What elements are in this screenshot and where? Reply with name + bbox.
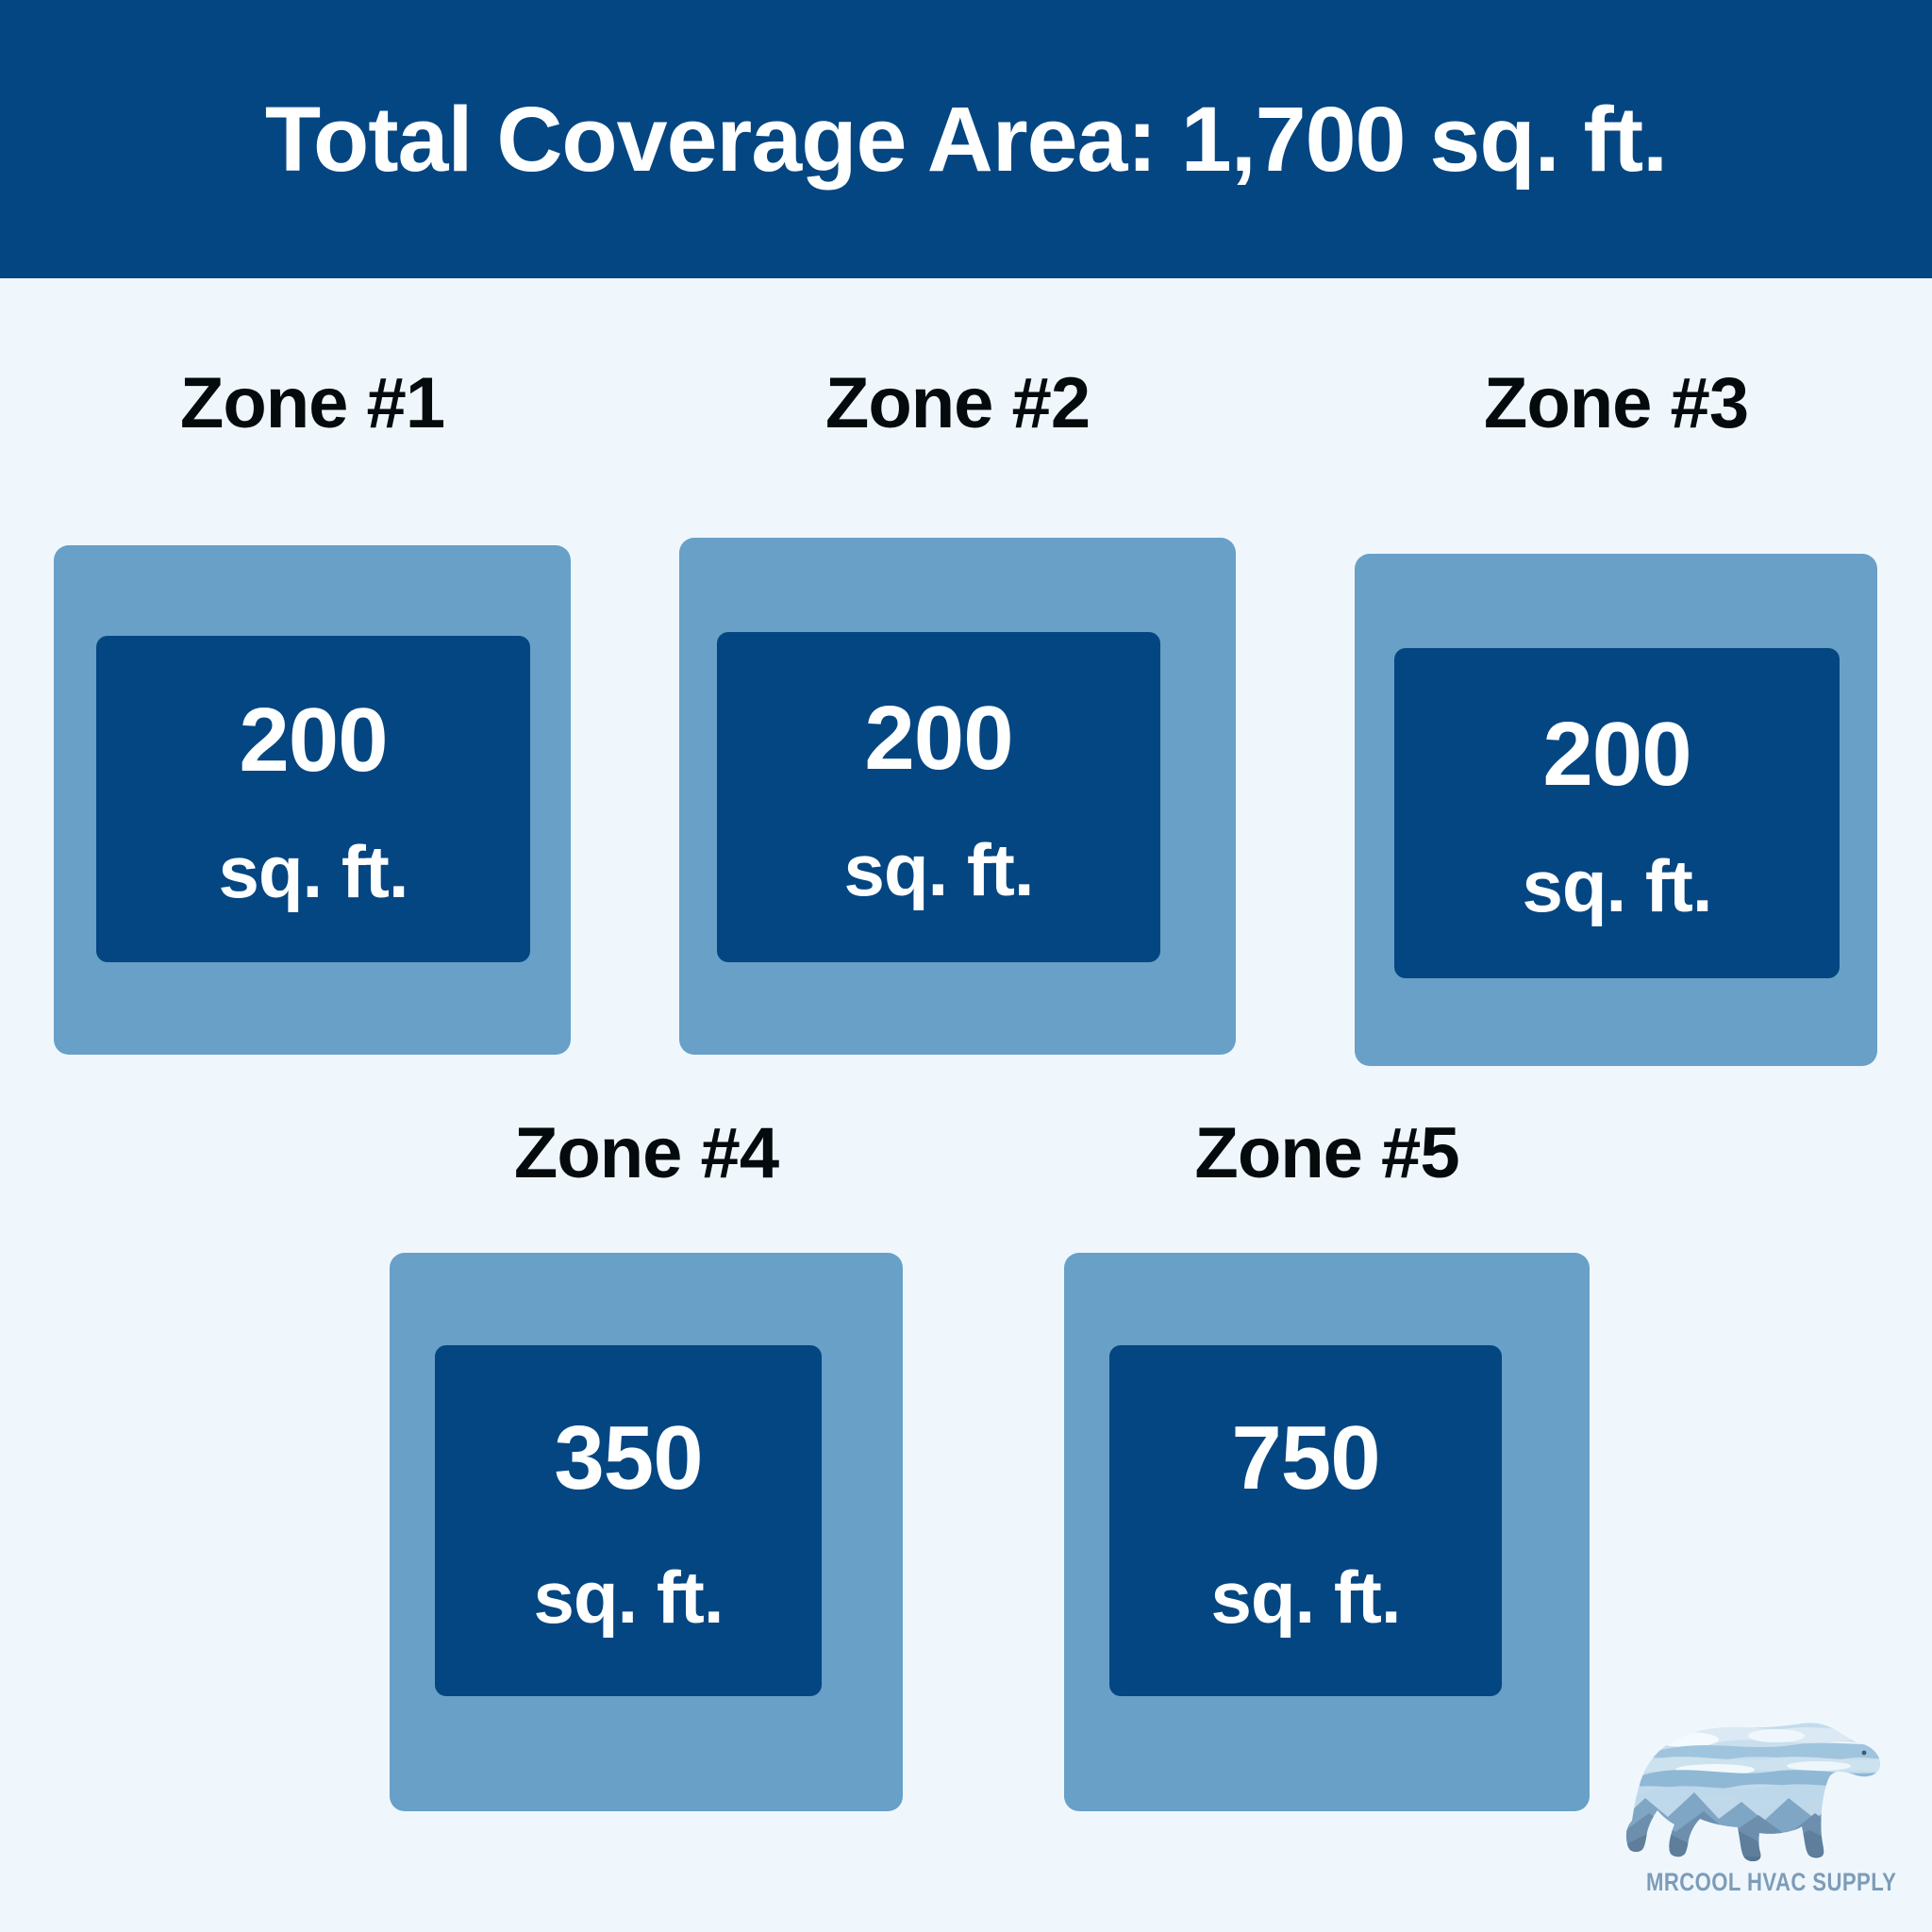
zone-outer-area-3: 200 sq. ft.: [1355, 554, 1877, 1066]
zone-inner-area-2: 200 sq. ft.: [717, 632, 1160, 962]
header-banner: Total Coverage Area: 1,700 sq. ft.: [0, 0, 1932, 278]
zone-label-5: Zone #5: [1064, 1118, 1590, 1190]
zone-unit-4: sq. ft.: [534, 1560, 724, 1634]
zone-outer-area-1: 200 sq. ft.: [54, 545, 571, 1055]
zone-label-1: Zone #1: [54, 368, 571, 440]
brand-logo: MRCOOL HVAC SUPPLY: [1621, 1715, 1904, 1913]
bear-landscape-fill: [1621, 1715, 1885, 1871]
zone-inner-area-4: 350 sq. ft.: [435, 1345, 822, 1696]
zone-value-4: 350: [554, 1413, 702, 1504]
zone-value-2: 200: [864, 693, 1012, 784]
zone-unit-5: sq. ft.: [1211, 1560, 1401, 1634]
zone-label-4: Zone #4: [390, 1118, 903, 1190]
bear-eye-icon: [1862, 1751, 1867, 1756]
page-title: Total Coverage Area: 1,700 sq. ft.: [265, 92, 1667, 188]
zone-outer-area-4: 350 sq. ft.: [390, 1253, 903, 1811]
logo-wordmark: MRCOOL HVAC SUPPLY: [1646, 1868, 1878, 1897]
zone-outer-area-5: 750 sq. ft.: [1064, 1253, 1590, 1811]
zone-inner-area-1: 200 sq. ft.: [96, 636, 530, 962]
polar-bear-icon: [1621, 1715, 1885, 1871]
zone-outer-area-2: 200 sq. ft.: [679, 538, 1236, 1055]
zone-unit-3: sq. ft.: [1523, 849, 1712, 923]
zone-label-2: Zone #2: [679, 368, 1236, 440]
zone-inner-area-3: 200 sq. ft.: [1394, 648, 1840, 978]
zone-value-1: 200: [239, 695, 387, 786]
zone-unit-2: sq. ft.: [844, 833, 1034, 907]
zone-unit-1: sq. ft.: [219, 835, 408, 908]
zone-label-3: Zone #3: [1355, 368, 1877, 440]
zone-value-5: 750: [1231, 1413, 1379, 1504]
zone-inner-area-5: 750 sq. ft.: [1109, 1345, 1502, 1696]
zone-value-3: 200: [1542, 709, 1690, 800]
infographic-page: Total Coverage Area: 1,700 sq. ft. Zone …: [0, 0, 1932, 1932]
